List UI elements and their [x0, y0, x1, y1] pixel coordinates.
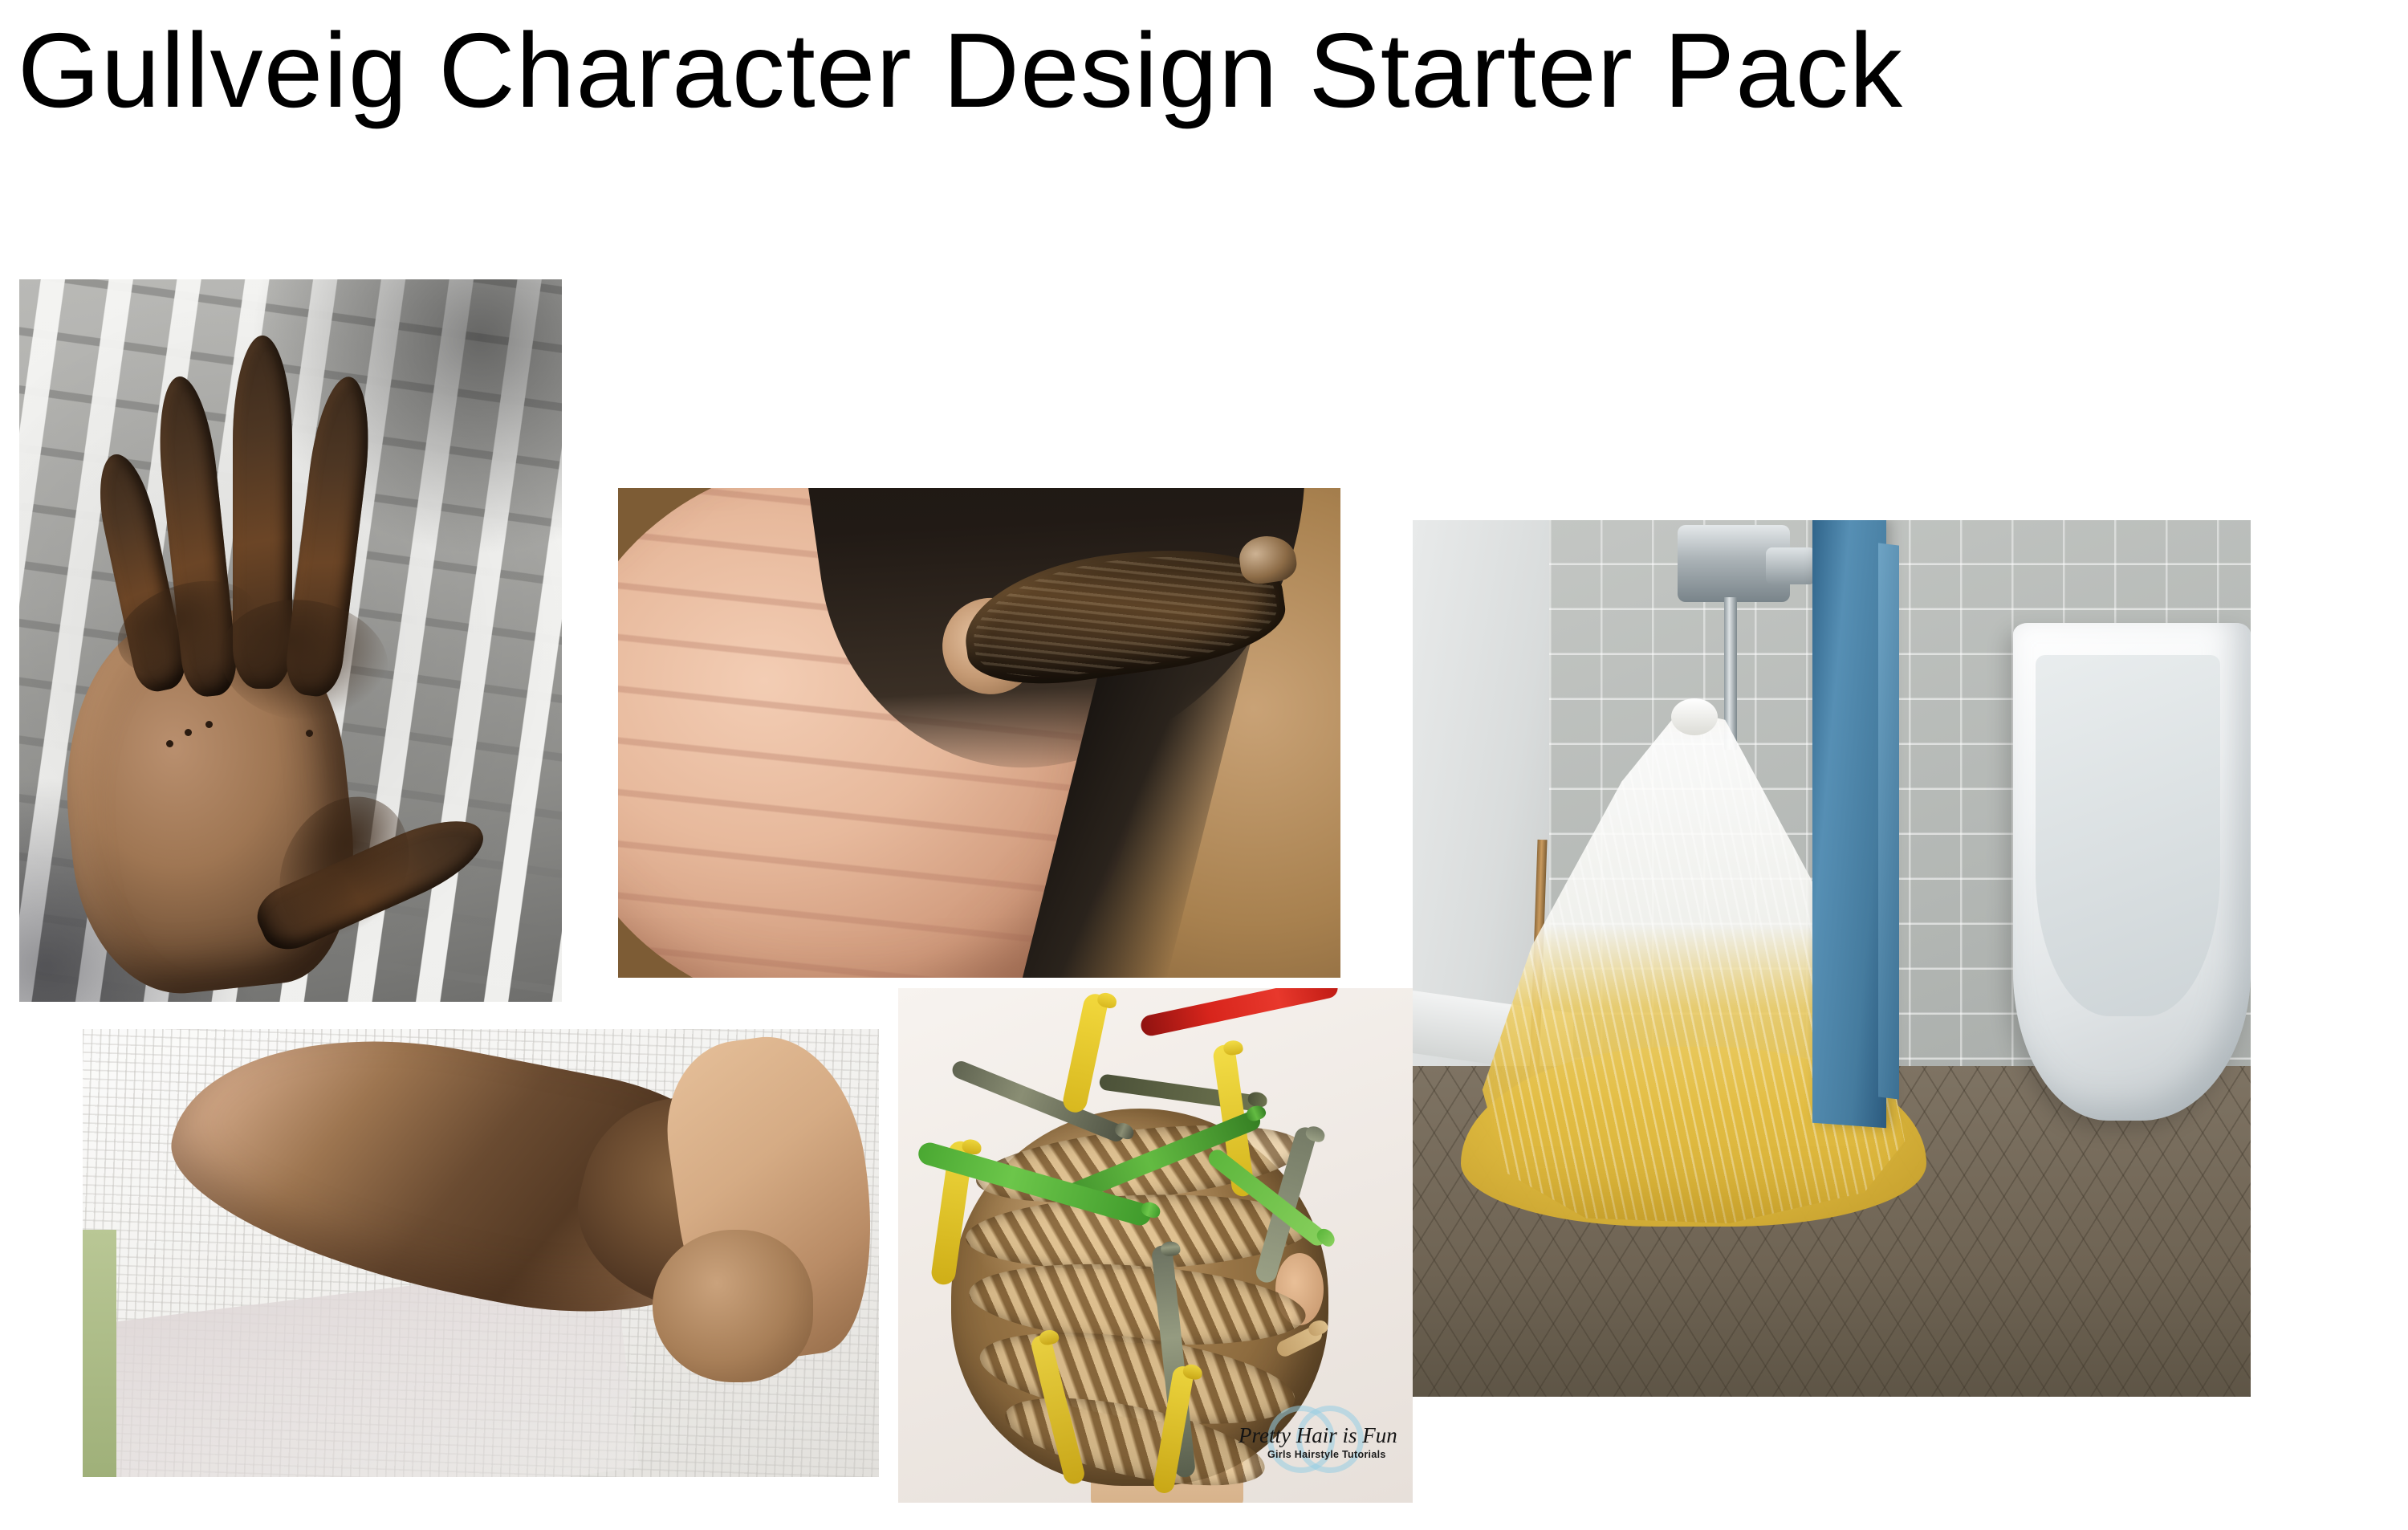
panel-hyperpigmented-leg — [83, 1029, 879, 1477]
urinal-basin — [2036, 655, 2220, 1016]
watermark-subtitle: Girls Hairstyle Tutorials — [1267, 1449, 1404, 1460]
watermark-title: Pretty Hair is Fun — [1239, 1423, 1399, 1448]
skin-mole — [205, 721, 213, 728]
blue-partition — [1812, 520, 1886, 1128]
green-cloth-edge — [83, 1230, 116, 1477]
collage-canvas: Gullveig Character Design Starter Pack — [0, 0, 2408, 1530]
panel-forehead-horn — [618, 488, 1340, 978]
heel — [653, 1230, 813, 1382]
page-title: Gullveig Character Design Starter Pack — [18, 14, 2394, 127]
panel-medusa-hair: Pretty Hair is Fun Girls Hairstyle Tutor… — [898, 988, 1413, 1503]
second-urinal — [2013, 623, 2251, 1121]
skin-mole — [306, 730, 313, 737]
flush-handle — [1766, 547, 1816, 584]
panel-burnt-hand — [19, 279, 562, 1002]
skin-mole — [166, 740, 173, 747]
plastic-bag-knot — [1671, 698, 1718, 735]
panel-bagged-urinal — [1413, 520, 2251, 1397]
watermark: Pretty Hair is Fun Girls Hairstyle Tutor… — [1239, 1409, 1399, 1468]
horn-tip — [1237, 532, 1299, 586]
skin-mole — [185, 729, 192, 736]
blue-partition-edge — [1878, 543, 1899, 1099]
